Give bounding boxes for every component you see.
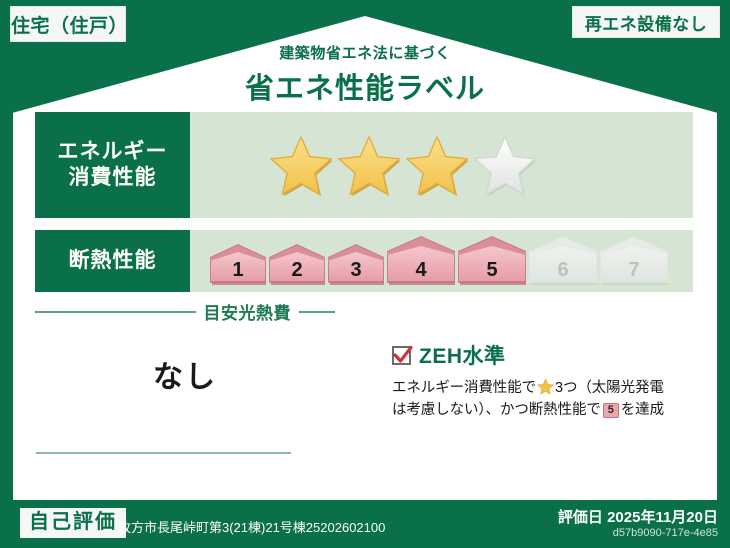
insulation-label-line1: 断熱性能 [69, 248, 157, 274]
star-icon-filled [406, 134, 468, 196]
insulation-scale-body: 1234567 [190, 230, 693, 292]
zeh-checkbox[interactable] [392, 346, 411, 365]
zeh-block: ZEH水準 エネルギー消費性能で3つ（太陽光発電 は考慮しない）、かつ断熱性能で… [392, 340, 700, 422]
label-subtitle: 建築物省エネ法に基づく [0, 42, 730, 63]
utility-cost-heading: 目安光熱費 [35, 299, 335, 324]
evaluation-date: 評価日 2025年11月20日 [558, 506, 718, 527]
label-title-block: 建築物省エネ法に基づく 省エネ性能ラベル [0, 42, 730, 107]
building-type-tag: 住宅（住戸） [10, 6, 126, 42]
star-icon-filled [338, 134, 400, 196]
zeh-desc-part3: を達成 [621, 402, 664, 418]
utility-cost-underline [36, 452, 291, 454]
zeh-desc-part2: は考慮しない）、かつ断熱性能で [392, 402, 601, 418]
zeh-title-row: ZEH水準 [392, 340, 700, 370]
grade-number: 2 [269, 259, 325, 282]
energy-performance-label: 住宅（住戸） 再エネ設備なし 建築物省エネ法に基づく 省エネ性能ラベル エネルギ… [0, 0, 730, 548]
grade-number: 7 [600, 259, 668, 282]
zeh-grade-chip: 5 [603, 403, 619, 418]
insulation-grade-3[interactable]: 3 [328, 244, 384, 286]
insulation-grade-4[interactable]: 4 [387, 236, 455, 286]
grade-number: 1 [210, 259, 266, 282]
energy-label-line2: 消費性能 [69, 165, 157, 191]
rule-right [299, 311, 335, 313]
insulation-performance-row: 断熱性能 1234567 [35, 230, 693, 292]
grade-number: 3 [328, 259, 384, 282]
insulation-grade-5[interactable]: 5 [458, 236, 526, 286]
insulation-grade-6[interactable]: 6 [529, 236, 597, 286]
grade-number: 4 [387, 259, 455, 282]
zeh-title: ZEH水準 [419, 340, 506, 370]
grade-number: 5 [458, 259, 526, 282]
star-rating [190, 112, 693, 218]
zeh-description: エネルギー消費性能で3つ（太陽光発電 は考慮しない）、かつ断熱性能で5を達成 [392, 377, 700, 422]
energy-performance-row: エネルギー 消費性能 [35, 112, 693, 218]
insulation-grade-7[interactable]: 7 [600, 236, 668, 286]
insulation-grade-1[interactable]: 1 [210, 244, 266, 286]
insulation-performance-label-box: 断熱性能 [35, 230, 190, 292]
insulation-grade-scale: 1234567 [210, 236, 668, 286]
star-icon-empty [474, 134, 536, 196]
rule-left [35, 311, 196, 313]
utility-cost-value: なし [35, 352, 335, 396]
zeh-desc-part1: エネルギー消費性能で [392, 380, 536, 396]
page-title: 省エネ性能ラベル [0, 65, 730, 107]
check-icon [391, 343, 415, 367]
property-address: 枚方市長尾峠町第3(21棟)21号棟25202602100 [118, 517, 385, 536]
star-icon-filled [270, 134, 332, 196]
insulation-grade-2[interactable]: 2 [269, 244, 325, 286]
star-icon [537, 378, 554, 395]
energy-label-line1: エネルギー [58, 139, 168, 165]
utility-cost-heading-text: 目安光熱費 [204, 299, 292, 324]
zeh-desc-star-count: 3つ（太陽光発電 [555, 380, 664, 396]
renewable-energy-tag: 再エネ設備なし [572, 6, 720, 38]
footer-bar: 自己評価 枚方市長尾峠町第3(21棟)21号棟25202602100 評価日 2… [0, 500, 730, 548]
evaluation-id: d57b9090-717e-4e85 [613, 527, 718, 539]
grade-number: 6 [529, 259, 597, 282]
energy-performance-label-box: エネルギー 消費性能 [35, 112, 190, 218]
self-evaluation-badge: 自己評価 [20, 508, 126, 538]
